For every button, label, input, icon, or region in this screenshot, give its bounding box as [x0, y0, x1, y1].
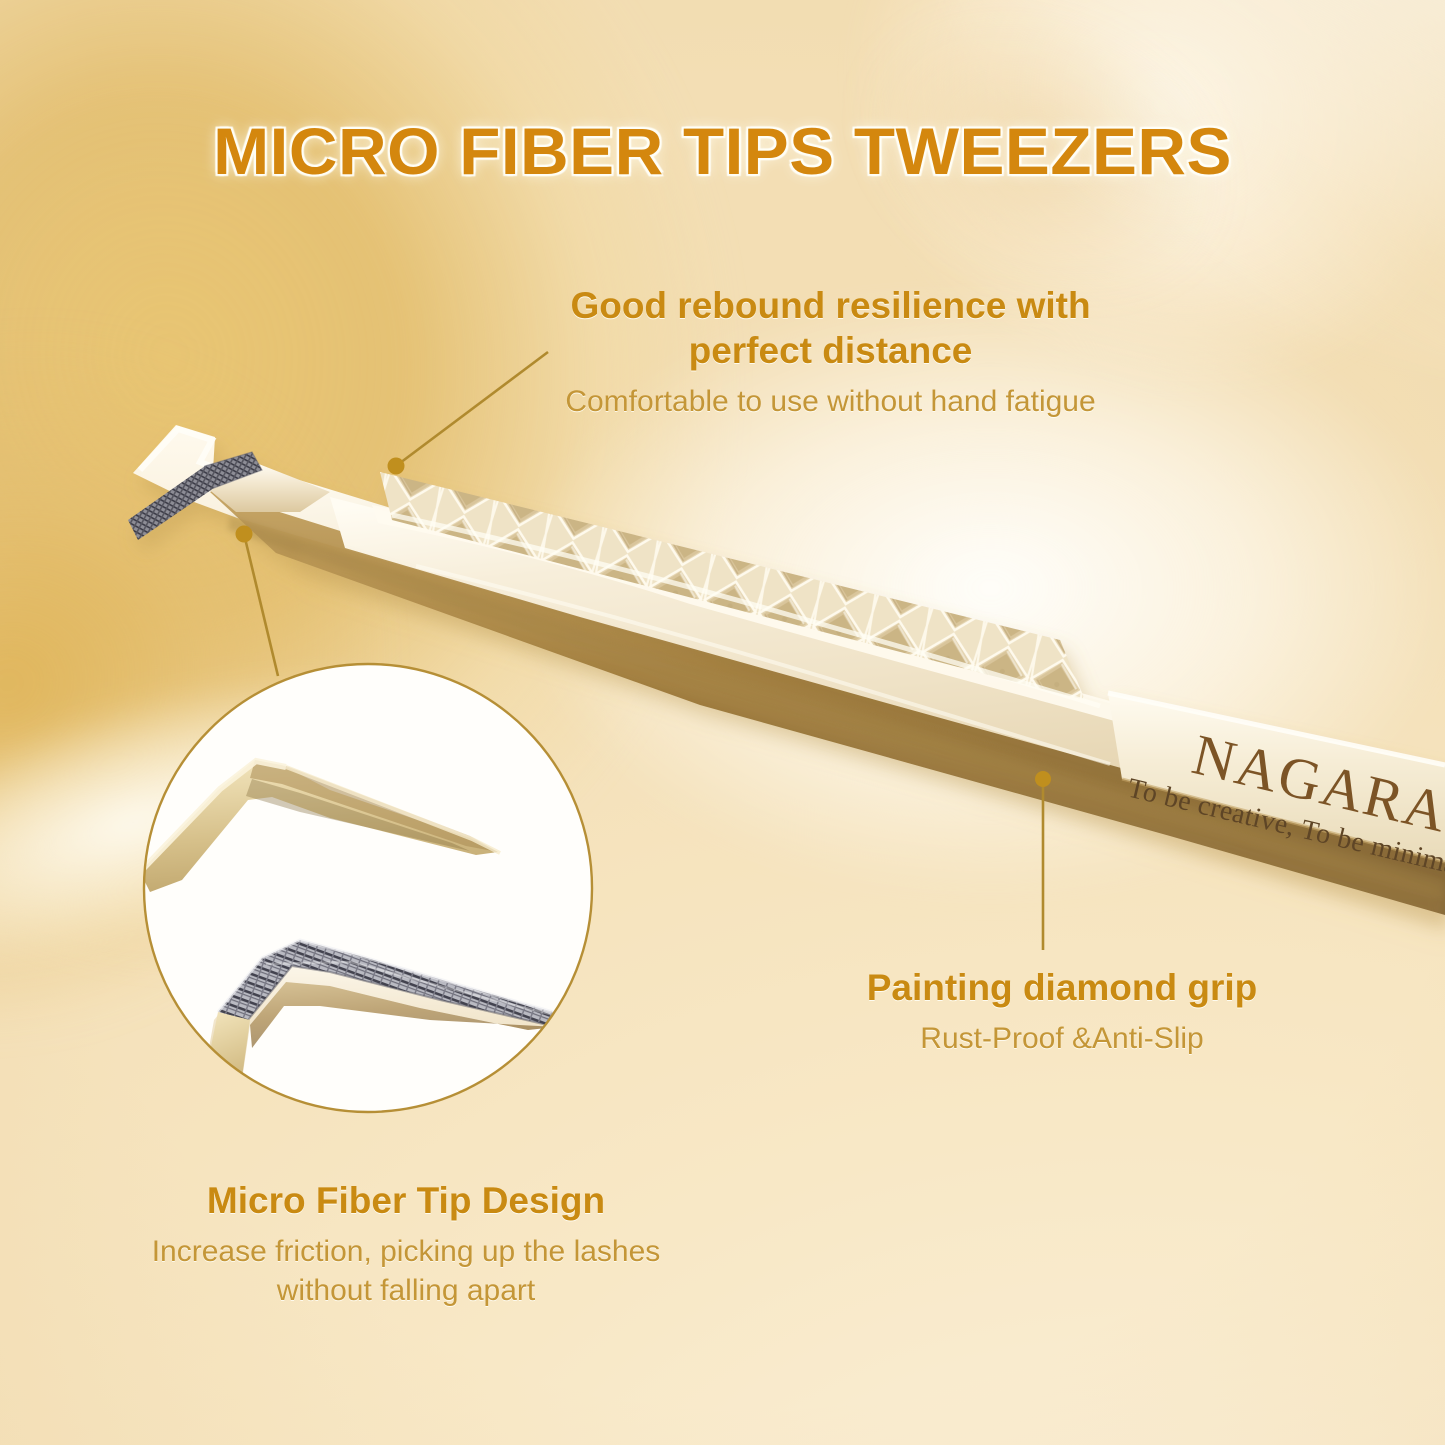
infographic-canvas: NAGARA To be creative, To be minimalist,…: [0, 0, 1445, 1445]
callout-tip: Micro Fiber Tip Design Increase friction…: [46, 1178, 766, 1310]
page-title: MICRO FIBER TIPS TWEEZERS: [0, 113, 1445, 189]
magnifier-closeup: [140, 660, 600, 1120]
callout-rebound-heading-line2: perfect distance: [373, 328, 1288, 373]
callout-grip: Painting diamond grip Rust-Proof &Anti-S…: [757, 965, 1367, 1058]
callout-rebound-sub: Comfortable to use without hand fatigue: [373, 382, 1288, 421]
callout-grip-sub: Rust-Proof &Anti-Slip: [757, 1019, 1367, 1058]
callout-grip-heading: Painting diamond grip: [757, 965, 1367, 1010]
callout-rebound-heading-line1: Good rebound resilience with: [373, 283, 1288, 328]
callout-tip-sub-line2: without falling apart: [46, 1271, 766, 1310]
callout-tip-heading: Micro Fiber Tip Design: [46, 1178, 766, 1223]
callout-rebound: Good rebound resilience with perfect dis…: [373, 283, 1288, 421]
callout-tip-sub-line1: Increase friction, picking up the lashes: [46, 1232, 766, 1271]
